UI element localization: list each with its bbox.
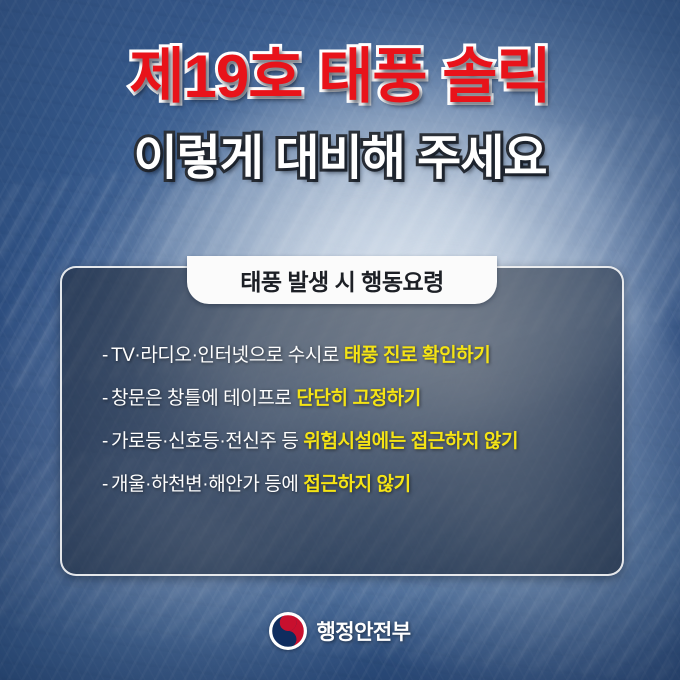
bullet-dash: -: [102, 345, 108, 366]
action-guide-panel: 태풍 발생 시 행동요령 -TV·라디오·인터넷으로 수시로 태풍 진로 확인하…: [60, 266, 624, 576]
list-item: -가로등·신호등·전신주 등 위험시설에는 접근하지 않기: [102, 432, 604, 451]
poster-title: 제19호 태풍 솔릭: [0, 46, 680, 108]
list-item: -TV·라디오·인터넷으로 수시로 태풍 진로 확인하기: [102, 346, 604, 365]
bullet-dash: -: [102, 474, 108, 495]
list-item: -개울·하천변·해안가 등에 접근하지 않기: [102, 475, 604, 494]
bullet-list: -TV·라디오·인터넷으로 수시로 태풍 진로 확인하기 -창문은 창틀에 테이…: [102, 346, 604, 494]
bullet-dash: -: [102, 388, 108, 409]
headline-block: 제19호 태풍 솔릭 이렇게 대비해 주세요: [0, 46, 680, 185]
list-item: -창문은 창틀에 테이프로 단단히 고정하기: [102, 389, 604, 408]
panel-title: 태풍 발생 시 행동요령: [240, 263, 444, 297]
bullet-text-normal: 창문은 창틀에 테이프로: [111, 388, 296, 409]
bullet-text-normal: 가로등·신호등·전신주 등: [111, 431, 303, 452]
bullet-dash: -: [102, 431, 108, 452]
agency-name: 행정안전부: [316, 616, 410, 646]
korea-government-taegeuk-icon: [269, 612, 307, 650]
footer: 행정안전부: [0, 608, 680, 654]
poster-subtitle: 이렇게 대비해 주세요: [0, 134, 680, 184]
bullet-text-highlight: 단단히 고정하기: [296, 388, 420, 409]
panel-header-tab: 태풍 발생 시 행동요령: [187, 256, 497, 304]
bullet-text-highlight: 태풍 진로 확인하기: [344, 345, 490, 366]
bullet-text-highlight: 위험시설에는 접근하지 않기: [303, 431, 518, 452]
bullet-text-highlight: 접근하지 않기: [303, 474, 410, 495]
typhoon-safety-poster: 제19호 태풍 솔릭 이렇게 대비해 주세요 태풍 발생 시 행동요령 -TV·…: [0, 0, 680, 680]
bullet-text-normal: 개울·하천변·해안가 등에: [111, 474, 303, 495]
bullet-text-normal: TV·라디오·인터넷으로 수시로: [111, 345, 344, 366]
